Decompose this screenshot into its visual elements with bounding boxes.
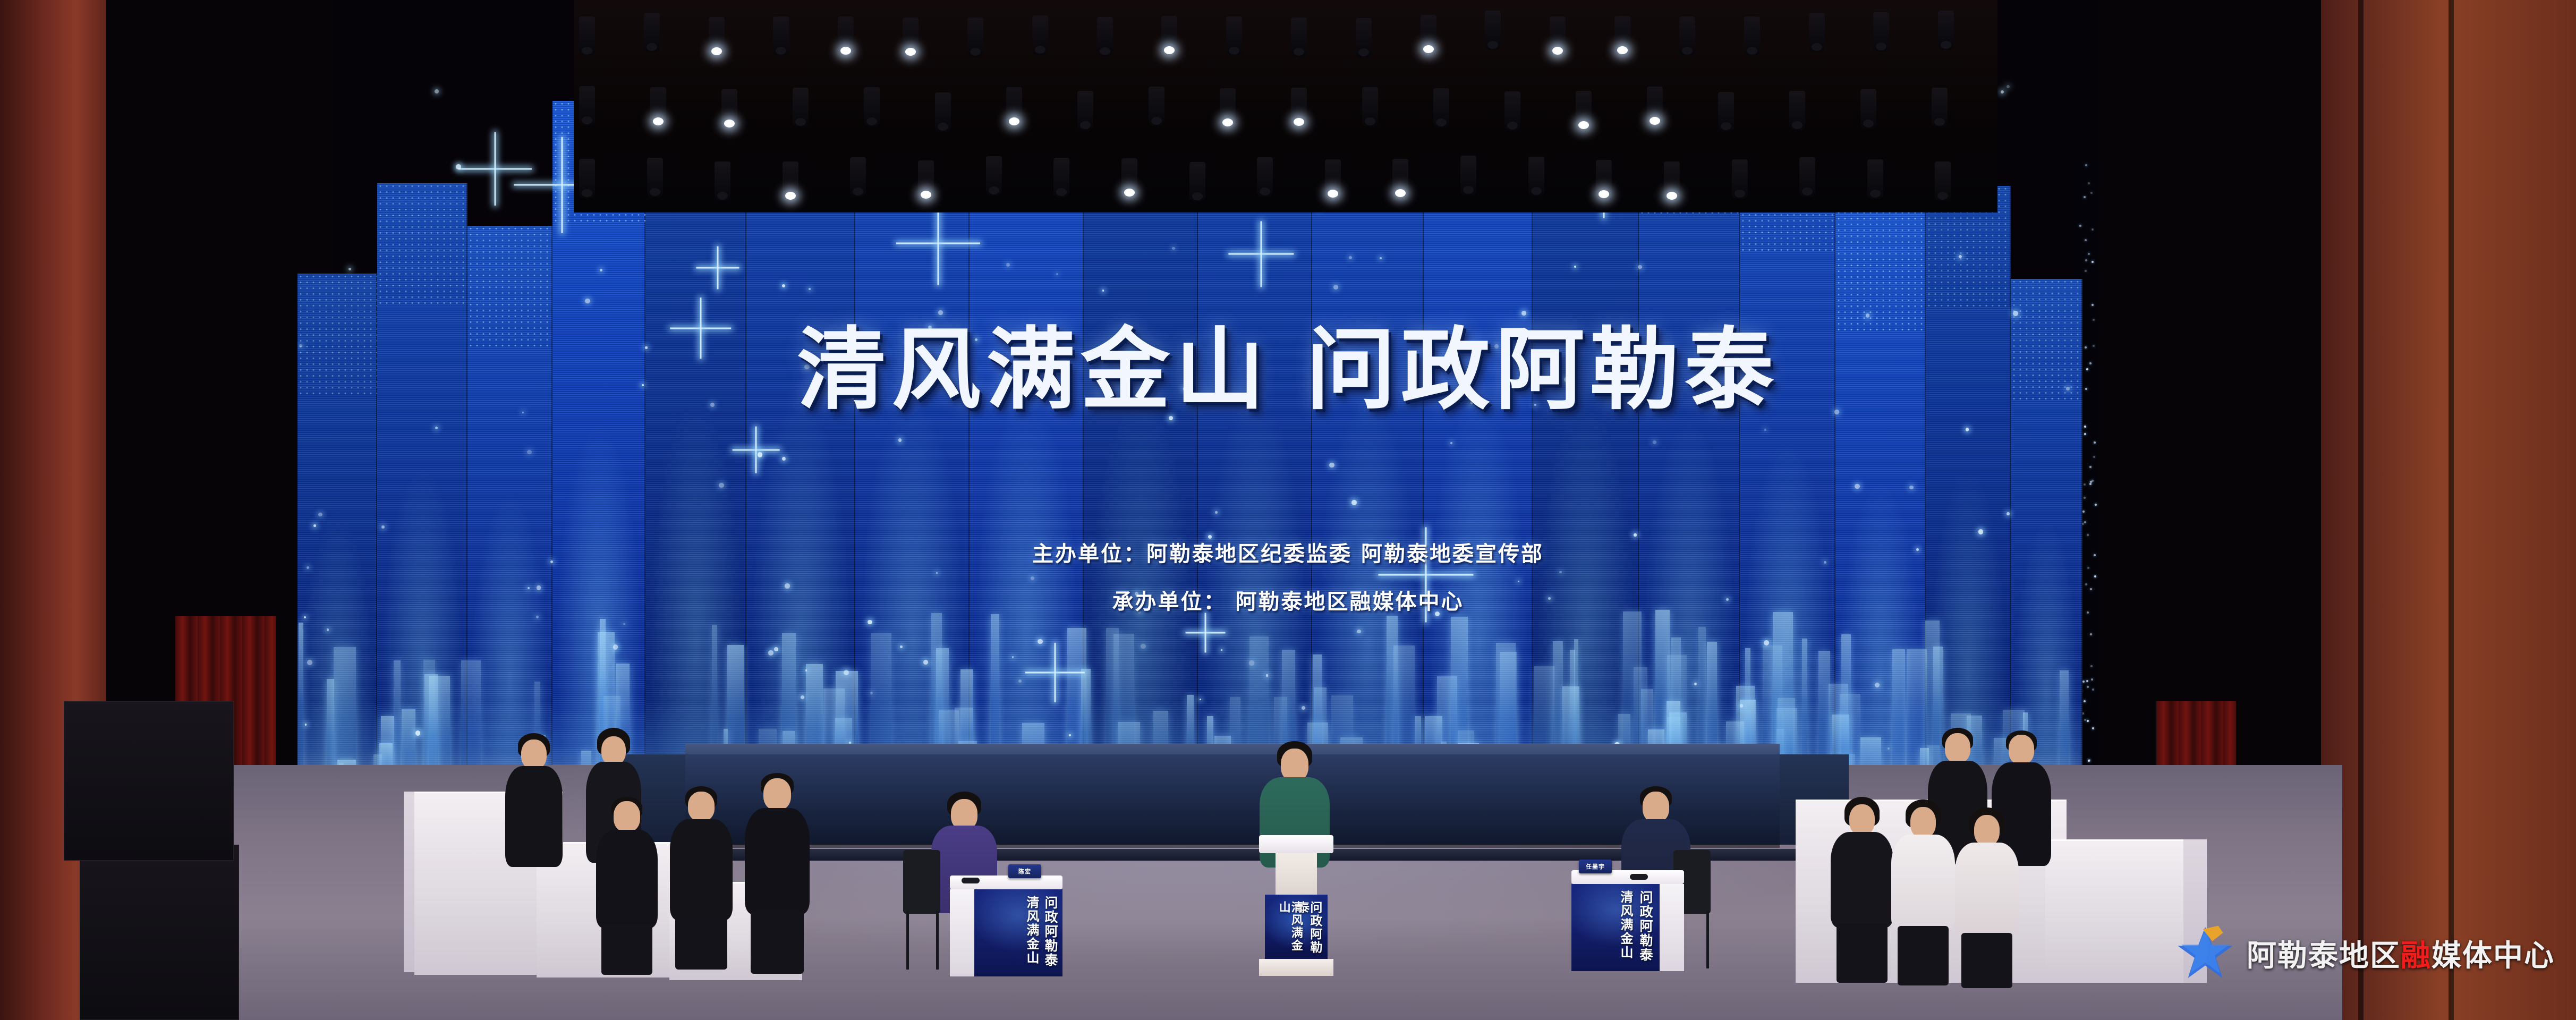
curtain-star [2085, 270, 2087, 272]
panelist-left-3 [590, 797, 664, 972]
rear-platform [685, 754, 1780, 845]
curtain-star [2092, 261, 2094, 263]
lighting-truss [574, 0, 1997, 212]
led-particle [435, 89, 439, 93]
stage-light [1257, 157, 1273, 197]
stage-light [1867, 159, 1883, 199]
stage-light [1077, 91, 1093, 130]
stage-light [579, 16, 595, 56]
desk-left-sign-right: 问政阿勒泰 [1043, 896, 1057, 967]
panelist-right-5 [1947, 807, 2027, 988]
stage-light [783, 161, 798, 201]
stage-light [1433, 88, 1449, 127]
nameplate-right: 任墨宇 [1579, 860, 1612, 873]
curtain-star [2092, 688, 2094, 691]
curtain-star [2087, 534, 2089, 536]
stage-light [864, 87, 880, 126]
panelist-left-1 [499, 733, 568, 892]
stage-light [918, 160, 934, 200]
stage-light [1799, 157, 1815, 197]
stage-light [650, 87, 666, 126]
led-particle [2007, 85, 2010, 88]
stage-light [1873, 12, 1889, 52]
led-sparkle [458, 132, 532, 206]
stage-light [1504, 91, 1520, 131]
stage-light [579, 159, 595, 198]
stage-light [1932, 88, 1948, 127]
stage-light [793, 88, 809, 127]
program-title: 清风满金山 问政阿勒泰 [0, 297, 2576, 427]
desk-left: 问政阿勒泰 清风满金山 [950, 875, 1062, 976]
stage-light [1789, 91, 1805, 130]
curtain-star [2082, 511, 2085, 513]
curtain-star [2084, 497, 2086, 499]
stage-light [1528, 157, 1544, 196]
curtain-star [2085, 164, 2087, 166]
nameplate-left: 陈宏 [1008, 864, 1041, 878]
desk-right: 问政阿勒泰 清风满金山 [1571, 870, 1684, 971]
stage-light [1718, 92, 1734, 131]
stage-light [644, 13, 660, 52]
curtain-star [2084, 433, 2086, 435]
stage-light [715, 161, 730, 201]
led-panel [377, 183, 467, 810]
stage-light [773, 16, 789, 56]
stage-light [986, 156, 1002, 195]
podium: 问政阿勒泰 清风满金山 [1259, 835, 1333, 976]
curtain-star [2090, 665, 2093, 667]
curtain-star [2092, 727, 2094, 729]
stage-light [579, 86, 595, 125]
stage-light [1679, 16, 1695, 56]
curtain-star [2087, 720, 2089, 722]
stage-light [1860, 89, 1876, 129]
stage-light [1614, 16, 1630, 55]
curtain-star [2089, 483, 2092, 485]
stage-light [1392, 159, 1408, 198]
curtain-star [2090, 192, 2093, 194]
led-particle [2001, 90, 2004, 93]
led-panel [1740, 130, 1835, 810]
stage-light [935, 92, 951, 132]
producer-line: 承办单位： 阿勒泰地区融媒体中心 [0, 584, 2576, 615]
stage-light [1356, 18, 1372, 57]
curtain-star [2084, 700, 2086, 702]
curtain-star [2094, 575, 2096, 577]
curtain-star [2084, 719, 2086, 721]
stage-light [1032, 15, 1048, 55]
stage-light [647, 158, 663, 197]
curtain-star [2088, 182, 2090, 184]
curtain-star [2086, 680, 2088, 682]
stage-light [1220, 88, 1236, 127]
curtain-star [2089, 466, 2092, 468]
stage-light [838, 16, 854, 56]
stage-light [850, 157, 866, 197]
stage-light [1935, 161, 1951, 201]
stage-light [1647, 87, 1663, 126]
curtain-star [2092, 228, 2094, 231]
stage-light [1226, 16, 1242, 56]
curtain-star [2094, 441, 2096, 444]
stage-light [1291, 88, 1307, 127]
stage-light [1161, 16, 1177, 55]
podium-sign-left: 清风满金山 [1278, 901, 1302, 960]
panelist-left-5 [738, 773, 815, 975]
stage-light [1325, 159, 1341, 199]
curtain-star [2093, 456, 2095, 458]
stage-light [1664, 161, 1680, 201]
stage-light [1938, 11, 1954, 50]
curtain-star [2092, 480, 2094, 482]
curtain-star [2082, 681, 2085, 683]
stage-light [967, 18, 983, 57]
panelist-left-4 [664, 786, 738, 970]
led-particle [456, 164, 461, 169]
stage-light [1550, 16, 1566, 56]
stage-light [1362, 87, 1378, 126]
stage-light [721, 89, 737, 129]
led-particle [348, 268, 351, 270]
curtain-star [2087, 686, 2089, 688]
speaker-stack-upper [64, 701, 234, 861]
speaker-stack-lower [80, 845, 239, 1020]
stage-light [1421, 15, 1436, 54]
stage-light [1097, 17, 1113, 56]
stage-light [1485, 11, 1501, 50]
curtain-star [2085, 239, 2087, 241]
curtain-star [2084, 483, 2086, 486]
stage-light [1053, 158, 1069, 197]
folding-chair-left [903, 850, 940, 914]
desk-right-sign-right: 问政阿勒泰 [1638, 890, 1652, 962]
stage-light [1149, 87, 1164, 126]
stage-light [1291, 18, 1307, 57]
microphone-left [962, 878, 980, 883]
curtain-star [2095, 504, 2097, 506]
curtain-star [2088, 253, 2090, 255]
microphone-right [1630, 874, 1648, 880]
curtain-star [2088, 760, 2090, 762]
curtain-star [2084, 521, 2086, 523]
stage-light [903, 18, 919, 57]
curtain-star [2090, 633, 2092, 635]
stage-light [1732, 159, 1748, 199]
stage-light [1809, 13, 1825, 52]
studio-stage-photo: 清风满金山 问政阿勒泰 主办单位：阿勒泰地区纪委监委 阿勒泰地委宣传部 承办单位… [0, 0, 2576, 1020]
stage-light [1006, 87, 1022, 126]
led-panel [1926, 186, 2011, 810]
curtain-star [2084, 196, 2086, 198]
desk-left-sign-left: 清风满金山 [1025, 896, 1038, 965]
stage-light [1121, 158, 1137, 198]
stage-light [1576, 91, 1592, 130]
organizer-line: 主办单位：阿勒泰地区纪委监委 阿勒泰地委宣传部 [0, 537, 2576, 567]
stage-light [1189, 162, 1205, 201]
curtain-star [2091, 678, 2093, 681]
stage-light [1744, 16, 1760, 56]
stage-light [1596, 160, 1612, 199]
stage-light [1460, 156, 1476, 195]
curtain-star [2085, 259, 2087, 261]
desk-right-sign-left: 清风满金山 [1619, 890, 1632, 959]
stage-light [709, 17, 725, 56]
